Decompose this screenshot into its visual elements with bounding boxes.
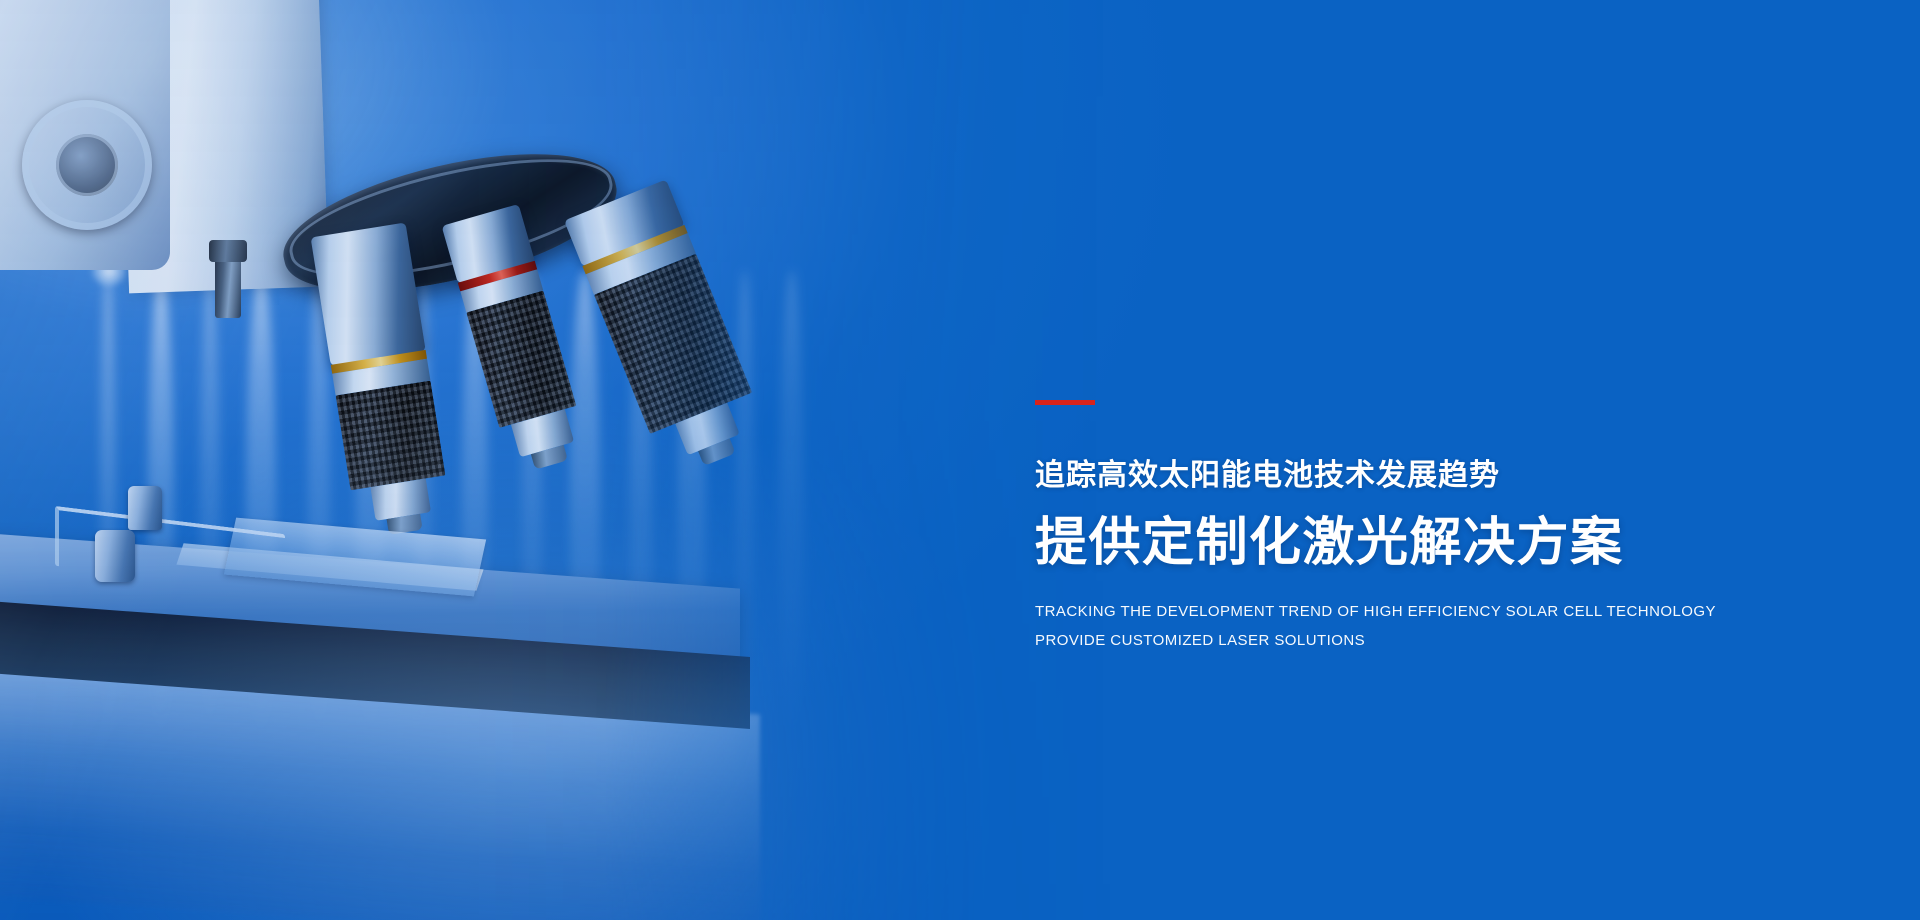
focus-screw [22, 100, 152, 230]
banner-text-block: 追踪高效太阳能电池技术发展趋势 提供定制化激光解决方案 TRACKING THE… [1035, 0, 1895, 920]
accent-rule [1035, 400, 1095, 405]
hero-banner: 追踪高效太阳能电池技术发展趋势 提供定制化激光解决方案 TRACKING THE… [0, 0, 1920, 920]
banner-subheadline: 追踪高效太阳能电池技术发展趋势 [1035, 459, 1500, 494]
adjustment-pin [215, 258, 241, 318]
stage-knob-lower [95, 530, 135, 582]
banner-english-line-2: PROVIDE CUSTOMIZED LASER SOLUTIONS [1035, 632, 1365, 649]
stage-knob-upper [128, 486, 162, 530]
banner-english-line-1: TRACKING THE DEVELOPMENT TREND OF HIGH E… [1035, 603, 1716, 620]
banner-headline: 提供定制化激光解决方案 [1035, 512, 1624, 574]
microscope-photo [0, 0, 1120, 920]
